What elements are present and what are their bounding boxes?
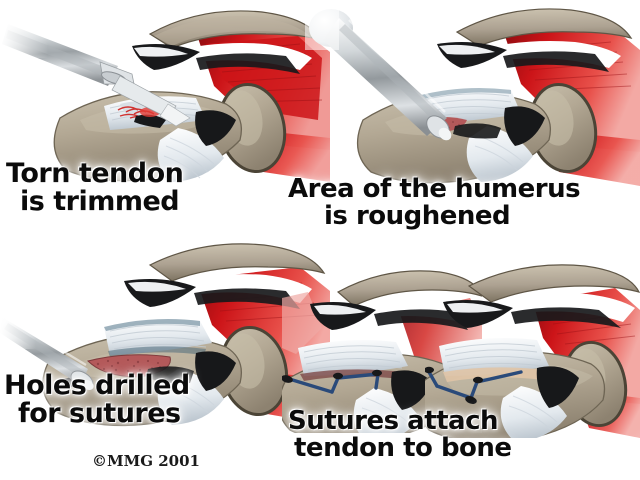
caption-line-2: for sutures <box>4 400 190 428</box>
caption-torn-tendon: Torn tendonis trimmed <box>6 160 183 215</box>
caption-line-1: Torn tendon <box>6 158 183 189</box>
caption-line-2: is trimmed <box>6 188 183 216</box>
illustration-canvas: Torn tendonis trimmed Area of the humeru… <box>0 0 640 480</box>
caption-holes-drilled: Holes drilledfor sutures <box>4 372 190 427</box>
caption-line-1: Area of the humerus <box>288 174 580 204</box>
caption-line-1: Holes drilled <box>4 370 190 401</box>
caption-sutures-attach: Sutures attachtendon to bone <box>288 408 512 461</box>
caption-line-2: tendon to bone <box>288 435 512 462</box>
panel-humerus-roughened <box>305 0 640 200</box>
caption-humerus-roughened: Area of the humerusis roughened <box>288 176 580 229</box>
caption-line-1: Sutures attach <box>288 406 498 436</box>
caption-line-2: is roughened <box>288 203 580 230</box>
shoulder-anatomy-burr <box>305 0 640 200</box>
copyright-notice: ©MMG 2001 <box>92 452 200 470</box>
